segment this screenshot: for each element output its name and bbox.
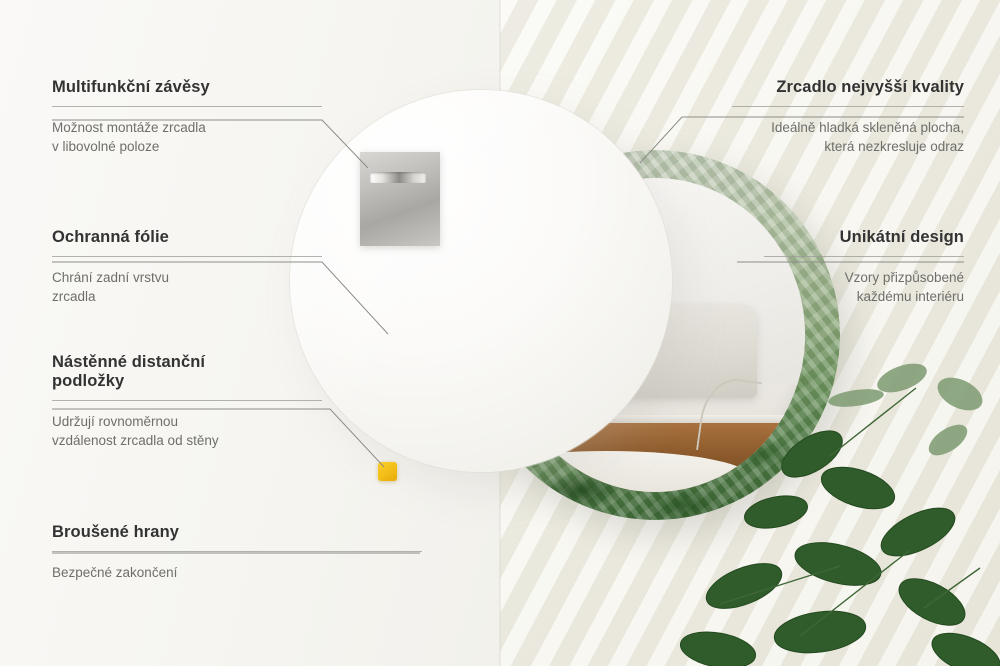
- callout-body: Chrání zadní vrstvu zrcadla: [52, 268, 322, 306]
- callout-body: Vzory přizpůsobené každému interiéru: [764, 268, 964, 306]
- callout-title: Ochranná fólie: [52, 228, 322, 247]
- infographic-stage: Multifunkční závěsy Možnost montáže zrca…: [0, 0, 1000, 666]
- body-line-2: která nezkresluje odraz: [824, 139, 964, 154]
- callout-brousene-hrany: Broušené hrany Bezpečné zakončení: [52, 523, 422, 582]
- callout-body: Ideálně hladká skleněná plocha, která ne…: [732, 118, 964, 156]
- callout-rule: [52, 106, 322, 107]
- body-line-2: vzdálenost zrcadla od stěny: [52, 433, 219, 448]
- callout-title: Broušené hrany: [52, 523, 422, 542]
- callout-zrcadlo-nejvyssi-kvality: Zrcadlo nejvyšší kvality Ideálně hladká …: [732, 78, 964, 156]
- callout-title: Nástěnné distanční podložky: [52, 353, 322, 391]
- wall-spacer-washer: [378, 462, 397, 481]
- callout-multifunkcni-zavesy: Multifunkční závěsy Možnost montáže zrca…: [52, 78, 322, 156]
- callout-body: Možnost montáže zrcadla v libovolné polo…: [52, 118, 322, 156]
- callout-ochranna-folie: Ochranná fólie Chrání zadní vrstvu zrcad…: [52, 228, 322, 306]
- body-line-1: Možnost montáže zrcadla: [52, 120, 206, 135]
- callout-rule: [764, 256, 964, 257]
- body-line-2: v libovolné poloze: [52, 139, 159, 154]
- callout-rule: [52, 551, 422, 552]
- title-line-2: podložky: [52, 372, 124, 390]
- callout-rule: [732, 106, 964, 107]
- hanger-keyhole-slot: [370, 172, 426, 183]
- body-line-1: Chrání zadní vrstvu: [52, 270, 169, 285]
- wall-hanger-plate: [360, 152, 440, 246]
- callout-unikatni-design: Unikátní design Vzory přizpůsobené každé…: [764, 228, 964, 306]
- callout-title: Zrcadlo nejvyšší kvality: [732, 78, 964, 97]
- callout-nastenne-distancni-podlozky: Nástěnné distanční podložky Udržují rovn…: [52, 353, 322, 450]
- body-line-1: Ideálně hladká skleněná plocha,: [771, 120, 964, 135]
- title-line-1: Nástěnné distanční: [52, 353, 205, 371]
- callout-title: Unikátní design: [764, 228, 964, 247]
- body-line-2: zrcadla: [52, 289, 96, 304]
- body-line-2: každému interiéru: [857, 289, 964, 304]
- body-line-1: Vzory přizpůsobené: [845, 270, 964, 285]
- callout-title: Multifunkční závěsy: [52, 78, 322, 97]
- callout-body: Bezpečné zakončení: [52, 563, 422, 582]
- callout-rule: [52, 256, 322, 257]
- body-line-1: Udržují rovnoměrnou: [52, 414, 178, 429]
- callout-body: Udržují rovnoměrnou vzdálenost zrcadla o…: [52, 412, 322, 450]
- callout-rule: [52, 400, 322, 401]
- mirror-back-highlight: [290, 90, 672, 472]
